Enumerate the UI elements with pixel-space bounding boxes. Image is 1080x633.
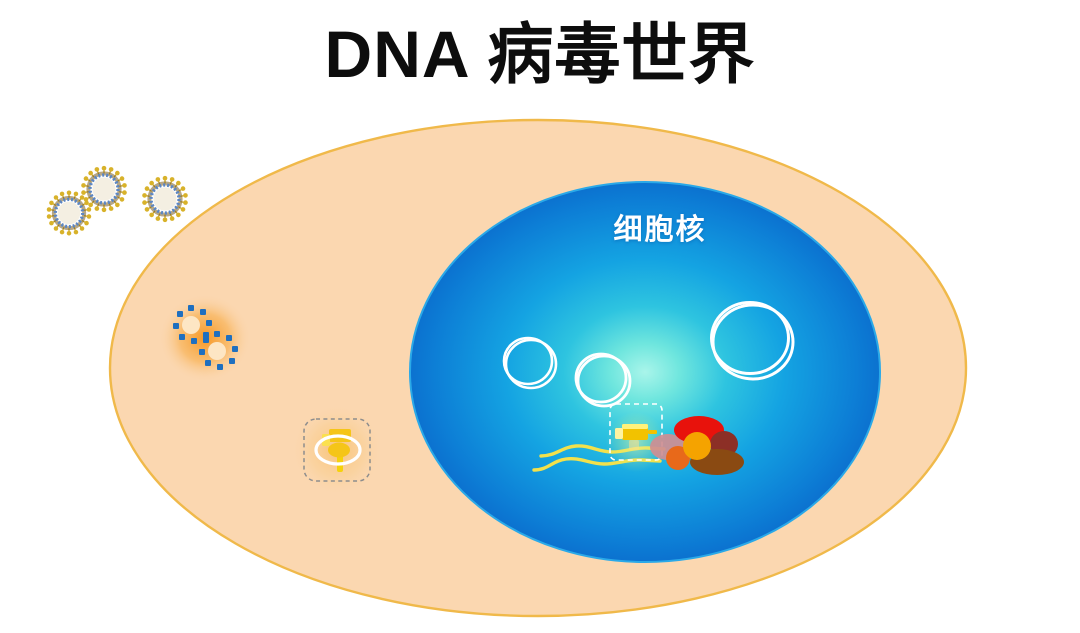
free-virus-particle-2 bbox=[81, 166, 127, 212]
nucleus-label: 细胞核 bbox=[555, 206, 765, 248]
free-virus-particle-1 bbox=[47, 190, 91, 235]
illustration-canvas: DNA 病毒世界 bbox=[0, 0, 1080, 633]
diagram-svg bbox=[0, 0, 1080, 633]
free-virus-particle-3 bbox=[142, 176, 188, 222]
blob-amber bbox=[683, 432, 711, 460]
